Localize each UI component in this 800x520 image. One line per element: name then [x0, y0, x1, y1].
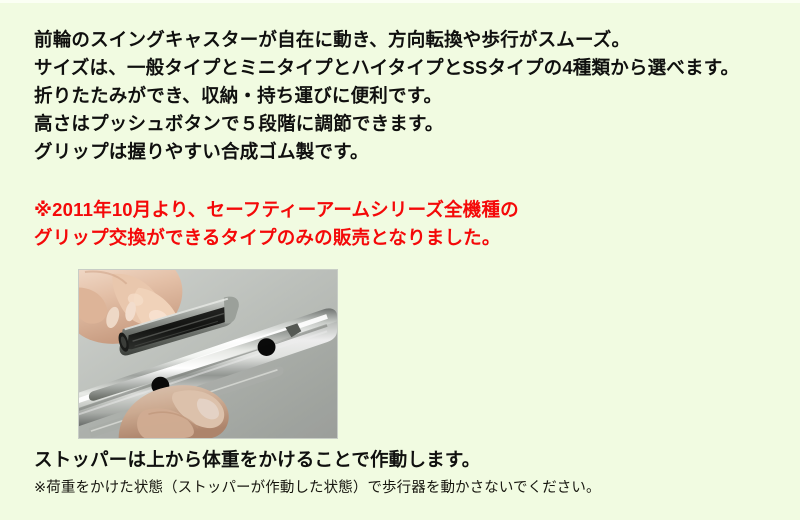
red-notice: ※2011年10月より、セーフティーアームシリーズ全機種の グリップ交換ができる… — [34, 196, 774, 252]
grip-photo-illustration — [79, 270, 337, 438]
stopper-instruction: ストッパーは上から体重をかけることで作動します。 ※荷重をかけた状態（ストッパー… — [34, 447, 774, 498]
stopper-note: ※荷重をかけた状態（ストッパーが作動した状態）で歩行器を動かさないでください。 — [34, 478, 774, 498]
stopper-heading: ストッパーは上から体重をかけることで作動します。 — [34, 447, 774, 473]
intro-line-3: 折りたたみができ、収納・持ち運びに便利です。 — [34, 82, 774, 110]
notice-line-2: グリップ交換ができるタイプのみの販売となりました。 — [34, 224, 774, 252]
grip-installation-photo — [78, 269, 338, 439]
intro-line-5: グリップは握りやすい合成ゴム製です。 — [34, 138, 774, 166]
notice-line-1: ※2011年10月より、セーフティーアームシリーズ全機種の — [34, 196, 774, 224]
intro-line-2: サイズは、一般タイプとミニタイプとハイタイプとSSタイプの4種類から選べます。 — [34, 54, 774, 82]
intro-paragraph: 前輪のスイングキャスターが自在に動き、方向転換や歩行がスムーズ。 サイズは、一般… — [34, 26, 774, 166]
top-edge-strip — [0, 0, 800, 3]
intro-line-1: 前輪のスイングキャスターが自在に動き、方向転換や歩行がスムーズ。 — [34, 26, 774, 54]
intro-line-4: 高さはプッシュボタンで５段階に調節できます。 — [34, 110, 774, 138]
product-description-page: 前輪のスイングキャスターが自在に動き、方向転換や歩行がスムーズ。 サイズは、一般… — [0, 0, 800, 520]
